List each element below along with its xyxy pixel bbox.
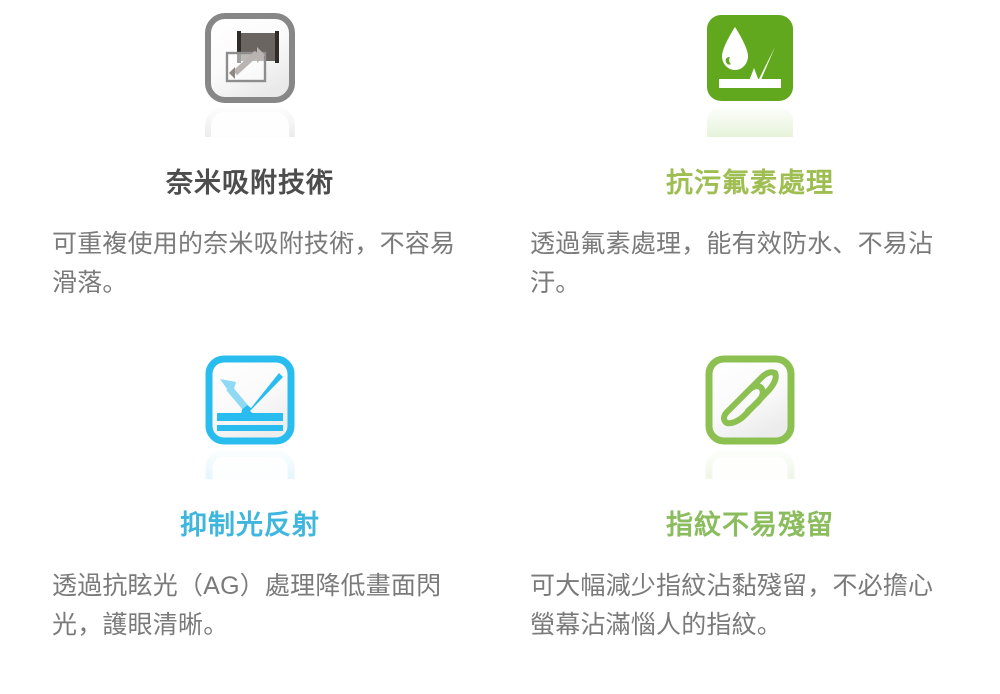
feature-description: 透過氟素處理，能有效防水、不易沾汙。 (530, 225, 954, 303)
fingertip-icon (705, 355, 795, 445)
icon-reflection (205, 445, 295, 479)
icon-stack (202, 355, 298, 481)
icon-reflection (705, 445, 795, 479)
icon-stack (702, 355, 798, 481)
feature-card-anti-stain-fluorine: 抗污氟素處理 透過氟素處理，能有效防水、不易沾汙。 (500, 0, 1000, 347)
water-drop-repellent-icon (705, 13, 795, 103)
feature-card-nano-adhesion: 奈米吸附技術 可重複使用的奈米吸附技術，不容易滑落。 (0, 0, 500, 347)
icon-reflection (205, 103, 295, 137)
feature-icon-wrap (0, 13, 500, 153)
light-reflection-arrows-icon (205, 355, 295, 445)
nano-adhesion-icon (205, 13, 295, 103)
feature-grid: 奈米吸附技術 可重複使用的奈米吸附技術，不容易滑落。 (0, 0, 1000, 694)
feature-icon-wrap (500, 355, 1000, 495)
feature-highlights-page: 奈米吸附技術 可重複使用的奈米吸附技術，不容易滑落。 (0, 0, 1000, 694)
icon-stack (702, 13, 798, 139)
feature-description: 可重複使用的奈米吸附技術，不容易滑落。 (52, 225, 476, 303)
feature-title: 抑制光反射 (0, 509, 500, 541)
feature-title: 指紋不易殘留 (500, 509, 1000, 541)
icon-stack (202, 13, 298, 139)
feature-description: 透過抗眩光（AG）處理降低畫面閃光，護眼清晰。 (52, 567, 476, 645)
feature-title: 奈米吸附技術 (0, 167, 500, 199)
feature-card-anti-fingerprint: 指紋不易殘留 可大幅減少指紋沾黏殘留，不必擔心螢幕沾滿惱人的指紋。 (500, 347, 1000, 694)
feature-title: 抗污氟素處理 (500, 167, 1000, 199)
feature-icon-wrap (0, 355, 500, 495)
feature-icon-wrap (500, 13, 1000, 153)
icon-reflection (705, 103, 795, 137)
feature-description: 可大幅減少指紋沾黏殘留，不必擔心螢幕沾滿惱人的指紋。 (530, 567, 954, 645)
feature-card-anti-glare: 抑制光反射 透過抗眩光（AG）處理降低畫面閃光，護眼清晰。 (0, 347, 500, 694)
